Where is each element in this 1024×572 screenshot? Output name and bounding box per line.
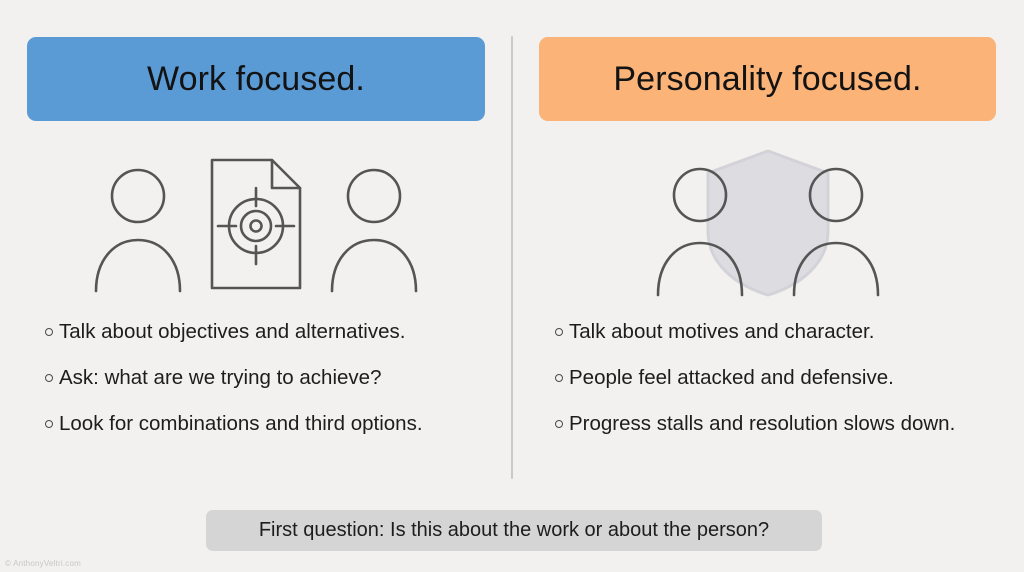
bullet-list-personality-focused: Talk about motives and character. People…: [539, 318, 996, 437]
document-target-icon: [212, 160, 300, 288]
vertical-divider: [511, 36, 513, 479]
illustration-two-people-with-target-document: [27, 140, 485, 305]
footer-caption-text: First question: Is this about the work o…: [259, 519, 769, 542]
list-item: Talk about motives and character.: [539, 318, 996, 345]
footer-caption-bar: First question: Is this about the work o…: [206, 510, 822, 551]
list-item-text: People feel attacked and defensive.: [569, 366, 894, 389]
slide-canvas: Work focused. Personality focused.: [0, 0, 1024, 572]
list-item-text: Talk about motives and character.: [569, 320, 874, 343]
list-item: Talk about objectives and alternatives.: [27, 318, 485, 345]
banner-personality-focused: Personality focused.: [539, 37, 996, 121]
illustration-two-people-with-shield: [539, 140, 996, 305]
bullet-circle-icon: [555, 328, 563, 336]
bullet-circle-icon: [45, 374, 53, 382]
banner-title-work-focused: Work focused.: [147, 60, 365, 99]
list-item: Ask: what are we trying to achieve?: [27, 364, 485, 391]
shield-icon: [708, 151, 828, 295]
bullet-list-work-focused: Talk about objectives and alternatives. …: [27, 318, 485, 437]
banner-work-focused: Work focused.: [27, 37, 485, 121]
bullet-circle-icon: [45, 420, 53, 428]
person-icon: [96, 170, 180, 291]
column-work-focused: Talk about objectives and alternatives. …: [27, 140, 485, 456]
watermark-credit: © AnthonyVeltri.com: [5, 559, 81, 568]
list-item-text: Progress stalls and resolution slows dow…: [569, 412, 955, 435]
list-item-text: Talk about objectives and alternatives.: [59, 320, 405, 343]
bullet-circle-icon: [555, 374, 563, 382]
list-item-text: Ask: what are we trying to achieve?: [59, 366, 381, 389]
list-item: People feel attacked and defensive.: [539, 364, 996, 391]
bullet-circle-icon: [45, 328, 53, 336]
person-icon: [332, 170, 416, 291]
list-item-text: Look for combinations and third options.: [59, 412, 423, 435]
column-personality-focused: Talk about motives and character. People…: [539, 140, 996, 456]
banner-title-personality-focused: Personality focused.: [613, 60, 921, 99]
bullet-circle-icon: [555, 420, 563, 428]
list-item: Look for combinations and third options.: [27, 410, 485, 437]
list-item: Progress stalls and resolution slows dow…: [539, 410, 996, 437]
